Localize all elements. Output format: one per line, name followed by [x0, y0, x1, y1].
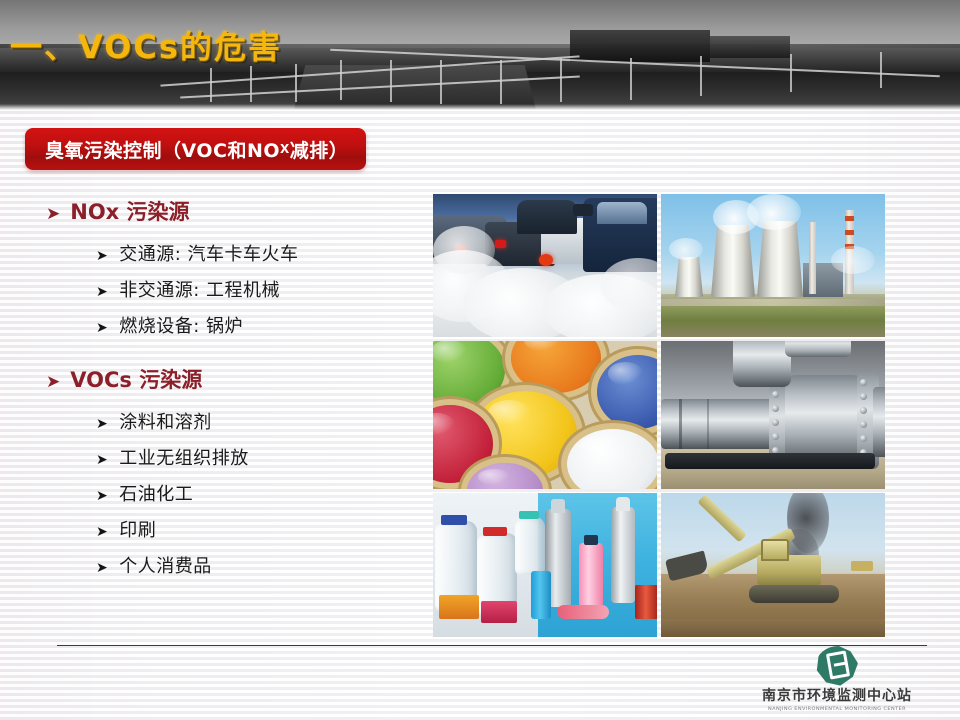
- sub-item-list-nox: ➤ 交通源: 汽车卡车火车 ➤ 非交通源: 工程机械 ➤ 燃烧设备: 锅炉: [96, 240, 426, 338]
- organization-name-en: NANJING ENVIRONMENTAL MONITORING CENTER: [732, 706, 942, 711]
- header-post-6: [440, 60, 442, 104]
- photo-pipeline-valve: [661, 341, 885, 489]
- bolt: [860, 407, 867, 414]
- header-bottom-fade: [0, 104, 960, 110]
- header-post-4: [340, 60, 342, 100]
- list-item: ➤ 交通源: 汽车卡车火车: [96, 240, 426, 266]
- red-can: [635, 585, 657, 619]
- photo-paint-cans: [433, 341, 657, 489]
- list-item-label: 石油化工: [119, 480, 193, 506]
- aerosol-can-2: [611, 507, 635, 603]
- lotion-cap: [584, 535, 598, 545]
- chevron-arrow-icon: ➤: [96, 453, 108, 467]
- chevron-arrow-icon: ➤: [96, 561, 108, 575]
- header-post-12: [880, 52, 882, 88]
- steam-plume-3: [669, 238, 703, 260]
- steam-plume-2: [747, 194, 801, 230]
- bolt: [860, 435, 867, 442]
- excavator-cab: [761, 539, 789, 561]
- section-nox: ➤ NOx 污染源 ➤ 交通源: 汽车卡车火车 ➤ 非交通源: 工程机械 ➤ 燃…: [46, 196, 426, 338]
- header-post-2: [250, 66, 252, 102]
- jug-cap-blue: [441, 515, 467, 525]
- steam-plume-4: [831, 246, 875, 274]
- banner-text-main: 臭氧污染控制（VOC和NO: [45, 136, 280, 163]
- bolt: [860, 379, 867, 386]
- photo-excavator: [661, 493, 885, 637]
- bolt: [860, 393, 867, 400]
- header-post-10: [700, 56, 702, 96]
- valve-body: [785, 375, 863, 465]
- list-item-label: 印刷: [119, 516, 156, 542]
- taillight-1: [495, 240, 506, 248]
- list-item-label: 燃烧设备: 锅炉: [119, 312, 243, 338]
- footer-logo: 南京市环境监测中心站 NANJING ENVIRONMENTAL MONITOR…: [732, 646, 942, 712]
- list-item: ➤ 个人消费品: [96, 552, 426, 578]
- list-item-label: 涂料和溶剂: [119, 408, 212, 434]
- organization-name-cn: 南京市环境监测中心站: [732, 689, 942, 704]
- taillight-3: [539, 254, 553, 266]
- bolt: [772, 433, 779, 440]
- chevron-arrow-icon: ➤: [96, 285, 108, 299]
- paint-can-white: [567, 429, 657, 489]
- aerosol-nozzle-1: [551, 499, 565, 513]
- excavator-track: [749, 585, 839, 603]
- jug-cap-teal: [519, 511, 539, 519]
- chevron-arrow-icon: ➤: [96, 321, 108, 335]
- bolt: [772, 405, 779, 412]
- dirt-foreground: [661, 619, 885, 637]
- paint-can-green: [433, 341, 505, 407]
- cooling-tower-small: [675, 257, 703, 297]
- list-item-label: 非交通源: 工程机械: [119, 276, 280, 302]
- chevron-arrow-icon: ➤: [46, 374, 60, 391]
- photo-consumer-products: [433, 493, 657, 637]
- top-flange: [785, 341, 851, 357]
- header-post-11: [790, 54, 792, 92]
- presentation-slide: 一、VOCs的危害 臭氧污染控制（VOC和NOX减排） ➤ NOx 污染源 ➤ …: [0, 0, 960, 720]
- product-label-1: [439, 595, 479, 619]
- photo-power-plant-cooling-towers: [661, 194, 885, 337]
- header-post-1: [210, 68, 212, 102]
- tube-product: [557, 605, 609, 619]
- pipe-weld-2: [707, 399, 709, 449]
- header-structure-b: [710, 36, 790, 58]
- car-5: [517, 200, 577, 234]
- page-title: 一、VOCs的危害: [10, 22, 282, 68]
- header-post-9: [630, 58, 632, 100]
- stack-band-1: [845, 216, 854, 221]
- bolt: [772, 419, 779, 426]
- list-item: ➤ 非交通源: 工程机械: [96, 276, 426, 302]
- stack-band-2: [845, 230, 854, 235]
- list-item-label: 个人消费品: [119, 552, 212, 578]
- list-item-label: 交通源: 汽车卡车火车: [119, 240, 298, 266]
- section-heading-label: NOx 污染源: [70, 196, 189, 226]
- paint-can-orange: [511, 341, 601, 393]
- car-4-window: [597, 202, 647, 224]
- cooling-tower-1: [711, 225, 755, 297]
- aerosol-nozzle-2: [616, 497, 630, 511]
- section-heading-label: VOCs 污染源: [70, 364, 202, 394]
- smokestack-1: [809, 222, 816, 294]
- pipe-support: [665, 453, 875, 469]
- bolt: [860, 421, 867, 428]
- chevron-arrow-icon: ➤: [96, 525, 108, 539]
- list-item-label: 工业无组织排放: [119, 444, 249, 470]
- pipe-right-segment: [873, 387, 885, 457]
- list-item: ➤ 印刷: [96, 516, 426, 542]
- cleaner-jug-3: [515, 517, 545, 575]
- bolt: [772, 391, 779, 398]
- exhaust-smoke-4: [433, 226, 495, 274]
- photo-traffic-jam-exhaust: [433, 194, 657, 337]
- product-label-2: [481, 601, 517, 623]
- section-vocs: ➤ VOCs 污染源 ➤ 涂料和溶剂 ➤ 工业无组织排放 ➤ 石油化工 ➤: [46, 364, 426, 578]
- pipe-weld-1: [679, 399, 682, 449]
- sub-item-list-vocs: ➤ 涂料和溶剂 ➤ 工业无组织排放 ➤ 石油化工 ➤ 印刷 ➤ 个人消费品: [96, 408, 426, 578]
- header-post-3: [295, 64, 297, 102]
- list-item: ➤ 燃烧设备: 锅炉: [96, 312, 426, 338]
- side-mirror: [573, 204, 593, 216]
- section-heading-nox: ➤ NOx 污染源: [46, 196, 426, 226]
- plant-road: [661, 299, 885, 306]
- header-post-5: [390, 60, 392, 102]
- list-item: ➤ 石油化工: [96, 480, 426, 506]
- section-heading-vocs: ➤ VOCs 污染源: [46, 364, 426, 394]
- leaf-e-logo-icon: [816, 646, 858, 686]
- list-item: ➤ 工业无组织排放: [96, 444, 426, 470]
- jug-cap-red: [483, 527, 507, 536]
- cooling-tower-2: [757, 221, 803, 297]
- blue-spray-bottle: [531, 571, 551, 619]
- header-post-8: [560, 58, 562, 102]
- chevron-arrow-icon: ➤: [96, 249, 108, 263]
- distant-vehicle: [851, 561, 873, 571]
- banner-text-tail: 减排）: [290, 136, 349, 163]
- paint-can-blue: [597, 355, 657, 429]
- chevron-arrow-icon: ➤: [96, 489, 108, 503]
- photo-grid: [433, 194, 883, 637]
- bullet-content: ➤ NOx 污染源 ➤ 交通源: 汽车卡车火车 ➤ 非交通源: 工程机械 ➤ 燃…: [46, 196, 426, 604]
- list-item: ➤ 涂料和溶剂: [96, 408, 426, 434]
- excavator-stick: [697, 494, 746, 542]
- banner-subscript: X: [280, 142, 290, 156]
- section-banner: 臭氧污染控制（VOC和NOX减排）: [25, 128, 366, 170]
- pink-lotion-bottle: [579, 543, 603, 609]
- chevron-arrow-icon: ➤: [46, 206, 60, 223]
- chevron-arrow-icon: ➤: [96, 417, 108, 431]
- header-structure-a: [570, 30, 710, 62]
- valve-stem-upper: [733, 341, 791, 387]
- header-post-7: [500, 60, 502, 104]
